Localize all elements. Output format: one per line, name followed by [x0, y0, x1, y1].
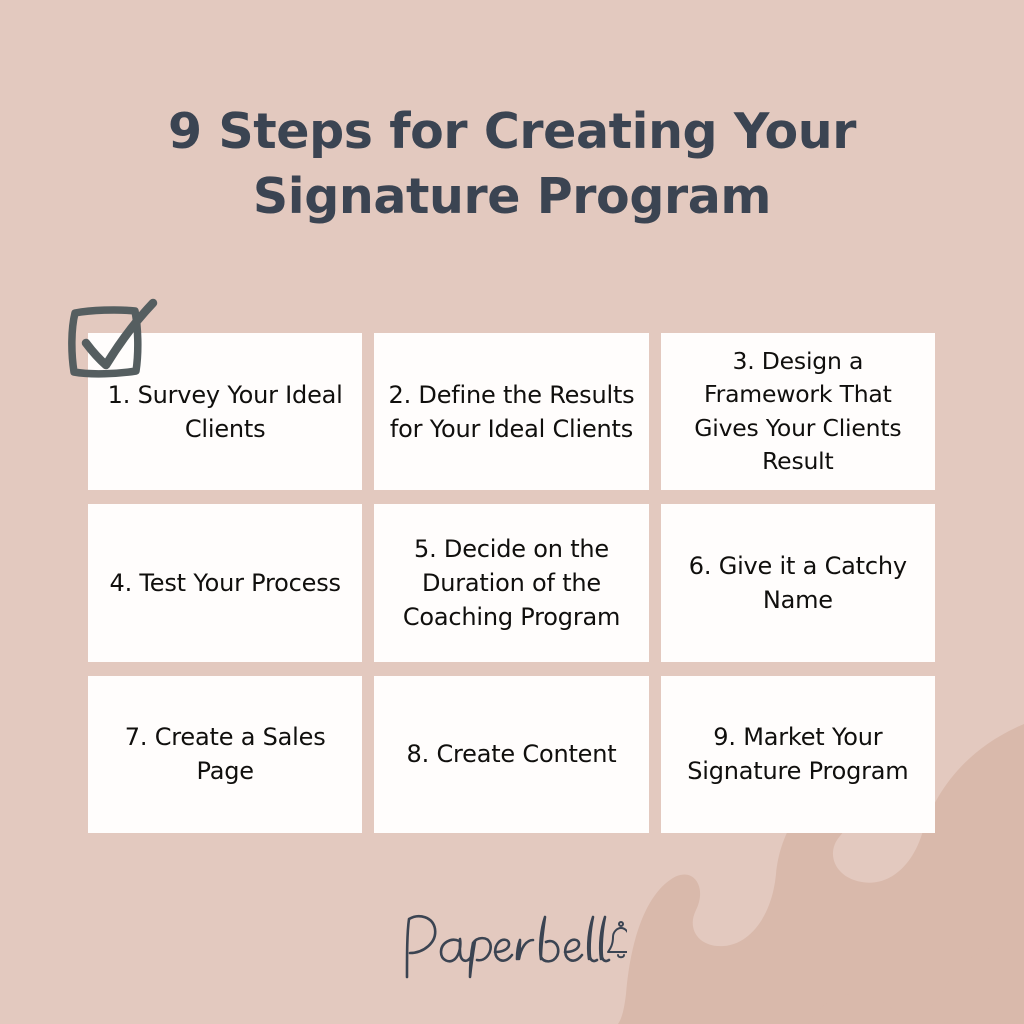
- bell-icon: [608, 922, 627, 957]
- checkbox-checked-icon: [59, 295, 163, 391]
- step-card-6[interactable]: 6. Give it a Catchy Name: [661, 504, 935, 661]
- infographic-canvas: 9 Steps for Creating Your Signature Prog…: [0, 0, 1024, 1024]
- step-card-4[interactable]: 4. Test Your Process: [88, 504, 362, 661]
- step-card-2-text: 2. Define the Results for Your Ideal Cli…: [388, 378, 634, 446]
- steps-grid: 1. Survey Your Ideal Clients 2. Define t…: [88, 333, 935, 833]
- step-card-9-text: 9. Market Your Signature Program: [675, 720, 921, 788]
- step-card-5-text: 5. Decide on the Duration of the Coachin…: [388, 532, 634, 634]
- step-card-9[interactable]: 9. Market Your Signature Program: [661, 676, 935, 833]
- page-title-line-2: Signature Program: [112, 165, 912, 230]
- page-title: 9 Steps for Creating Your Signature Prog…: [112, 100, 912, 229]
- step-card-2[interactable]: 2. Define the Results for Your Ideal Cli…: [374, 333, 648, 490]
- brand-logo[interactable]: Paperbell: [0, 904, 1024, 984]
- step-card-3[interactable]: 3. Design a Framework That Gives Your Cl…: [661, 333, 935, 490]
- step-card-8[interactable]: 8. Create Content: [374, 676, 648, 833]
- step-card-7[interactable]: 7. Create a Sales Page: [88, 676, 362, 833]
- step-card-7-text: 7. Create a Sales Page: [102, 720, 348, 788]
- step-card-3-text: 3. Design a Framework That Gives Your Cl…: [675, 345, 921, 478]
- page-title-line-1: 9 Steps for Creating Your: [112, 100, 912, 165]
- step-card-5[interactable]: 5. Decide on the Duration of the Coachin…: [374, 504, 648, 661]
- step-card-8-text: 8. Create Content: [407, 737, 617, 771]
- paperbell-script-wordmark: [397, 907, 627, 981]
- step-card-6-text: 6. Give it a Catchy Name: [675, 549, 921, 617]
- step-card-4-text: 4. Test Your Process: [110, 566, 341, 600]
